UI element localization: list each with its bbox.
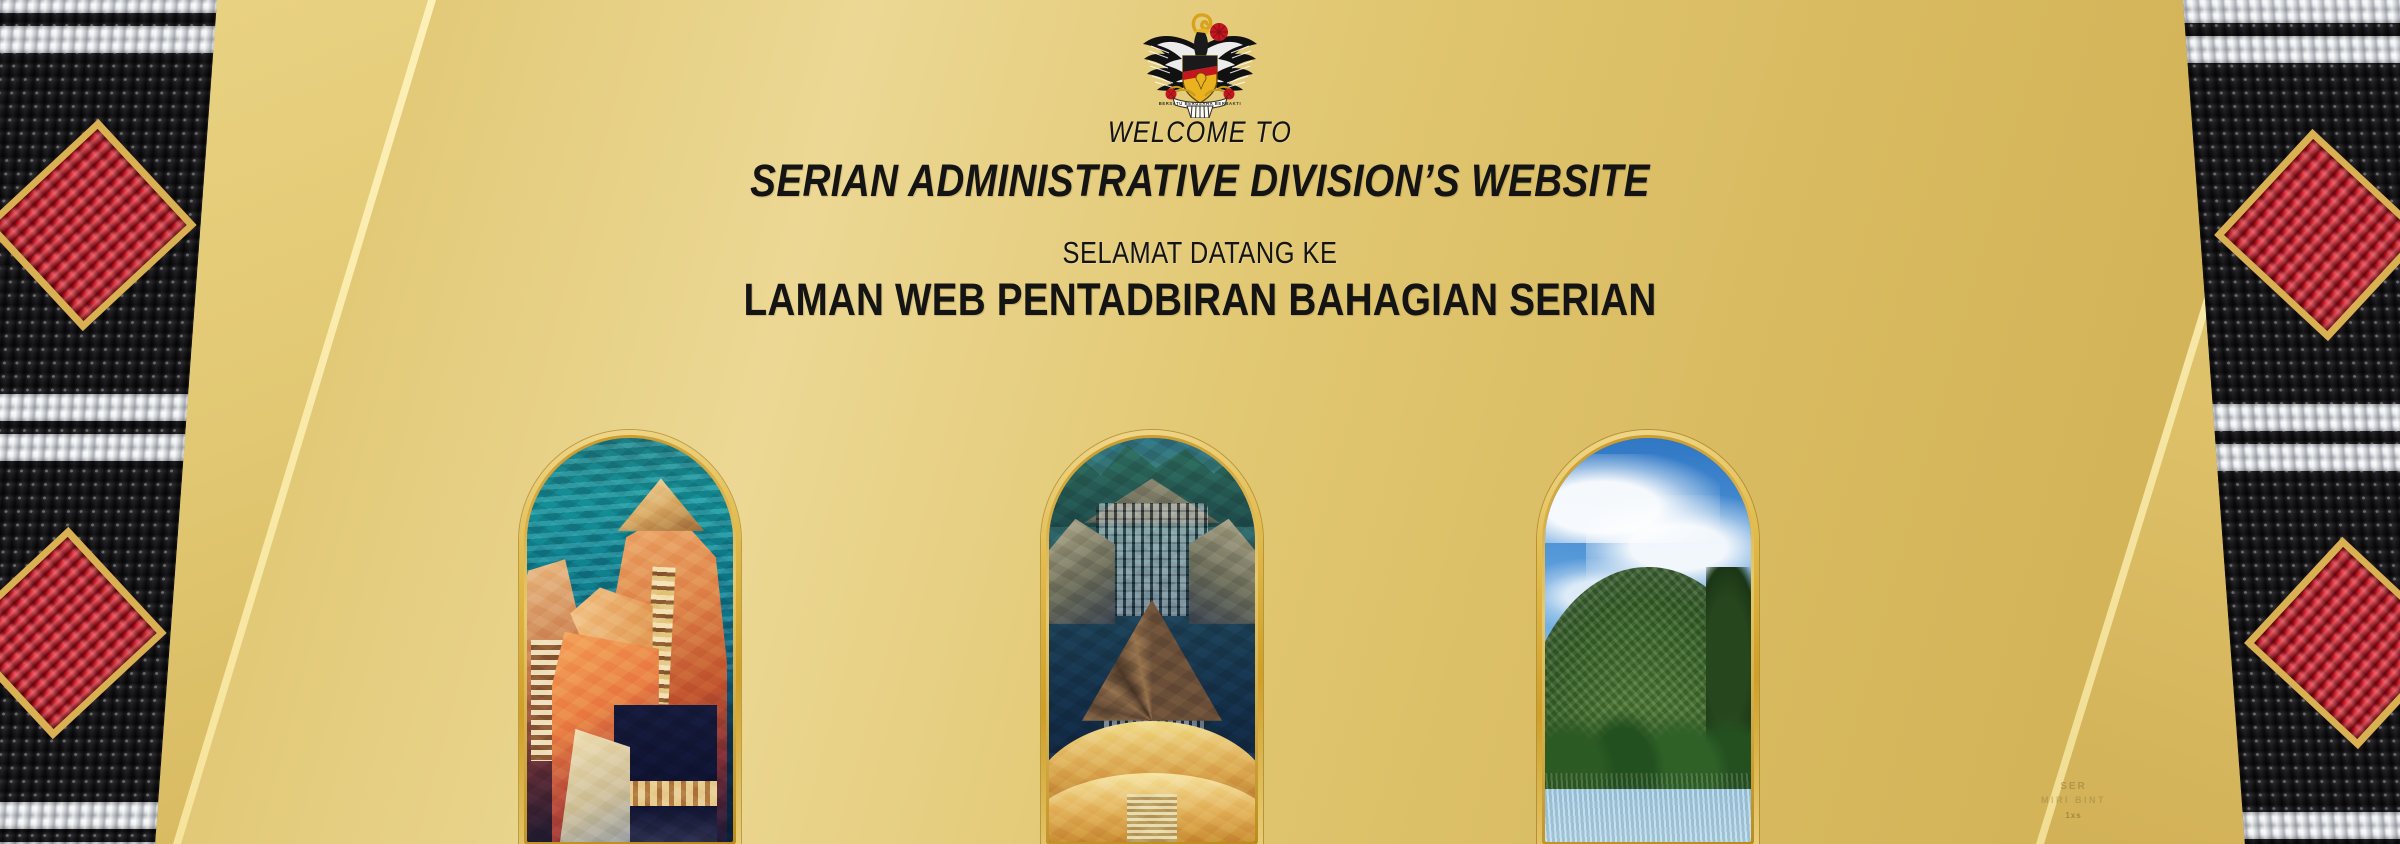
forested-hill-landscape-image[interactable] bbox=[1537, 430, 1759, 844]
bead-white-row bbox=[2180, 36, 2400, 63]
sarawak-coat-of-arms-emblem: BERSATU BERUSAHA BERBAKTI bbox=[1135, 6, 1265, 118]
arch-image-area bbox=[527, 438, 733, 842]
welcome-label-english: WELCOME TO bbox=[192, 118, 2208, 148]
bead-white-row bbox=[2180, 0, 2400, 23]
bead-white-row bbox=[0, 0, 220, 13]
arch-frame-inner-border bbox=[1046, 435, 1258, 844]
bead-white-row bbox=[0, 26, 220, 53]
plaza-steps bbox=[1127, 794, 1176, 842]
welcome-banner: BERSATU BERUSAHA BERBAKTI WELCOME TO SER… bbox=[0, 0, 2400, 844]
arch-frame-inner-border bbox=[1542, 435, 1754, 844]
bead-diamond-motif bbox=[2244, 537, 2400, 749]
bead-diamond-motif bbox=[0, 527, 167, 739]
arch-image-area bbox=[1545, 438, 1751, 842]
welcome-label-malay: SELAMAT DATANG KE bbox=[216, 237, 2184, 268]
welcome-heading-block: WELCOME TO SERIAN ADMINISTRATIVE DIVISIO… bbox=[0, 118, 2400, 326]
svg-text:BERSATU BERUSAHA BERBAKTI: BERSATU BERUSAHA BERBAKTI bbox=[1159, 101, 1241, 106]
arch-image-area bbox=[1049, 438, 1255, 842]
traditional-costume-dancers-image[interactable] bbox=[519, 430, 741, 844]
grass-field bbox=[1545, 773, 1751, 842]
site-title-english: SERIAN ADMINISTRATIVE DIVISION’S WEBSITE bbox=[168, 154, 2232, 207]
administrative-building-aerial-image[interactable] bbox=[1041, 430, 1263, 844]
arch-frame-inner-border bbox=[524, 435, 736, 844]
site-title-malay: LAMAN WEB PENTADBIRAN BAHAGIAN SERIAN bbox=[168, 273, 2232, 326]
